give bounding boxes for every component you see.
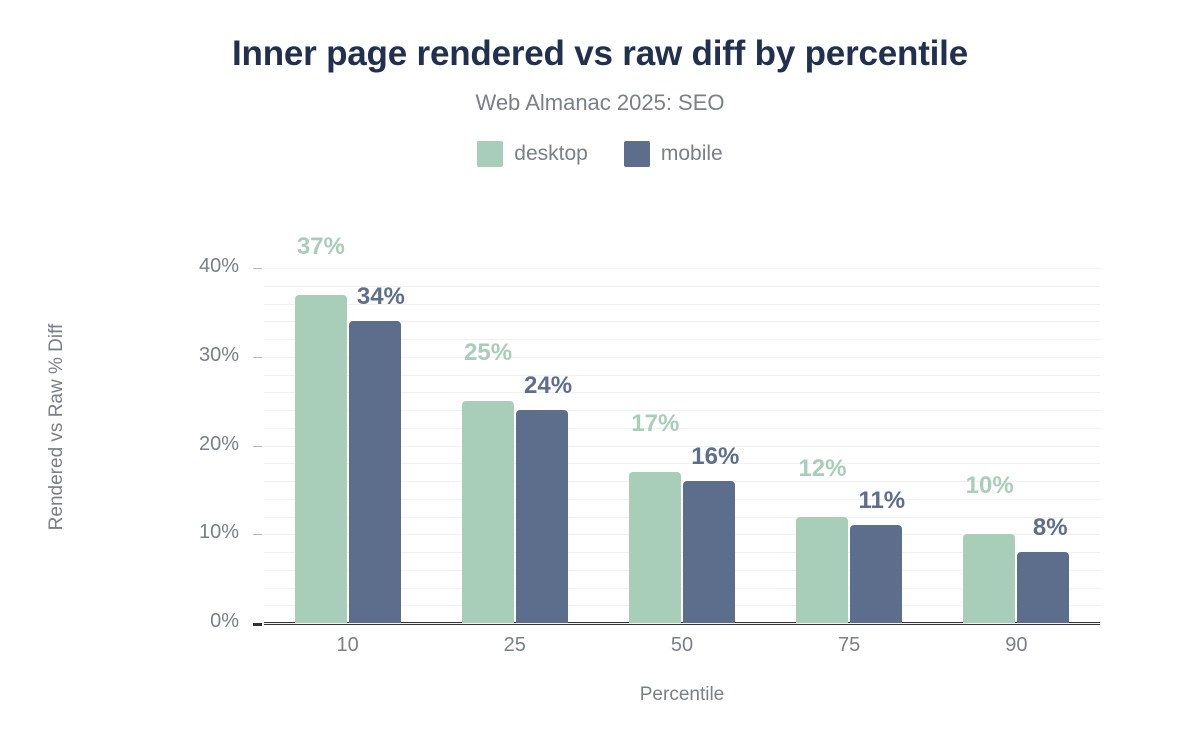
- chart-title: Inner page rendered vs raw diff by perce…: [0, 34, 1200, 74]
- legend-label-desktop: desktop: [514, 142, 588, 166]
- y-axis-tick-mark: [253, 623, 262, 626]
- y-axis-tick-mark: [253, 268, 262, 269]
- bar-value-label-desktop-90: 10%: [966, 472, 1014, 500]
- x-axis-tick-label: 10: [308, 634, 388, 657]
- x-axis-tick-label: 50: [642, 634, 722, 657]
- chart-container: Inner page rendered vs raw diff by perce…: [0, 0, 1200, 742]
- chart-subtitle: Web Almanac 2025: SEO: [0, 90, 1200, 116]
- bar-value-label-desktop-25: 25%: [464, 339, 512, 367]
- y-axis-tick-label: 30%: [199, 344, 239, 367]
- x-axis-tick-label: 90: [976, 634, 1056, 657]
- y-axis-tick-label: 20%: [199, 433, 239, 456]
- bar-desktop-10[interactable]: [295, 295, 347, 623]
- bar-desktop-90[interactable]: [963, 534, 1015, 623]
- bar-value-label-mobile-10: 34%: [357, 283, 405, 311]
- bar-mobile-50[interactable]: [683, 481, 735, 623]
- gridline: [264, 623, 1100, 624]
- bar-mobile-90[interactable]: [1017, 552, 1069, 623]
- y-axis-tick-mark: [253, 357, 262, 358]
- legend-swatch-desktop: [477, 141, 503, 167]
- x-axis-title: Percentile: [264, 684, 1100, 706]
- legend-label-mobile: mobile: [661, 142, 723, 166]
- y-axis-tick-mark: [253, 446, 262, 447]
- bar-desktop-50[interactable]: [629, 472, 681, 623]
- y-axis-tick-label: 40%: [199, 255, 239, 278]
- chart-legend: desktop mobile: [0, 141, 1200, 167]
- x-axis-tick-label: 25: [475, 634, 555, 657]
- legend-item-desktop[interactable]: desktop: [477, 141, 588, 167]
- y-axis-tick-mark: [253, 534, 262, 535]
- bar-value-label-mobile-90: 8%: [1033, 514, 1068, 542]
- bar-desktop-25[interactable]: [462, 401, 514, 623]
- bar-value-label-desktop-50: 17%: [631, 410, 679, 438]
- bar-desktop-75[interactable]: [796, 517, 848, 624]
- y-axis-tick-label: 10%: [199, 521, 239, 544]
- bar-value-label-desktop-75: 12%: [798, 455, 846, 483]
- bar-mobile-10[interactable]: [349, 321, 401, 623]
- bar-value-label-desktop-10: 37%: [297, 233, 345, 261]
- bar-mobile-75[interactable]: [850, 525, 902, 623]
- bar-value-label-mobile-25: 24%: [524, 372, 572, 400]
- bar-value-label-mobile-50: 16%: [691, 443, 739, 471]
- y-axis-tick-label: 0%: [210, 610, 239, 633]
- x-axis-tick-label: 75: [809, 634, 889, 657]
- plot-area: 37%34%25%24%17%16%12%11%10%8%: [264, 268, 1100, 623]
- y-axis-title: Rendered vs Raw % Diff: [46, 217, 72, 637]
- legend-swatch-mobile: [624, 141, 650, 167]
- bar-value-label-mobile-75: 11%: [858, 487, 905, 515]
- gridline: [264, 268, 1100, 269]
- legend-item-mobile[interactable]: mobile: [624, 141, 723, 167]
- bar-mobile-25[interactable]: [516, 410, 568, 623]
